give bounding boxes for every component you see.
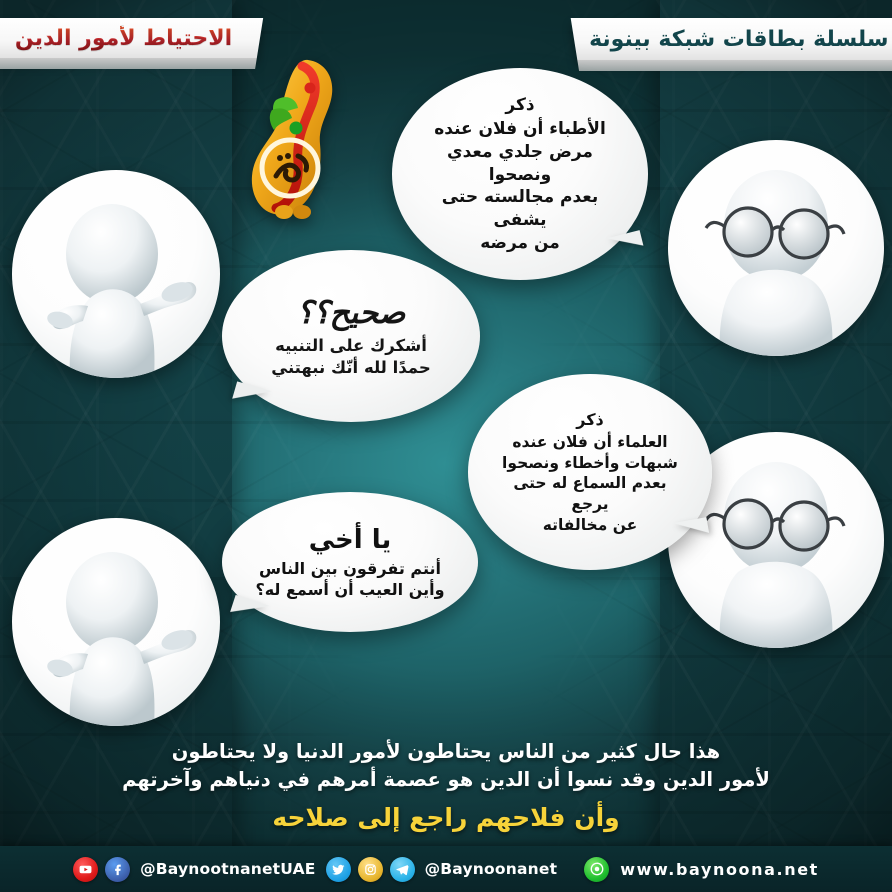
conclusion-block: هذا حال كثير من الناس يحتاطون لأمور الدن… — [0, 738, 892, 832]
bubble-line: بعدم مجالسته حتى يشفى — [418, 186, 622, 231]
bubble-title: صحيح؟؟ — [271, 293, 431, 334]
footer-website[interactable]: www.baynoona.net — [620, 860, 819, 879]
website-icon[interactable] — [584, 857, 609, 882]
character-plain-bottom-left — [12, 518, 220, 726]
bubble-line: من مرضه — [418, 232, 622, 255]
conclusion-highlight: وأن فلاحهم راجع إلى صلاحه — [52, 803, 840, 832]
bubble-line: أشكرك على التنبيه — [271, 335, 431, 357]
conclusion-line-2: لأمور الدين وقد نسوا أن الدين هو عصمة أم… — [52, 766, 840, 794]
facebook-icon[interactable] — [105, 857, 130, 882]
telegram-icon[interactable] — [390, 857, 415, 882]
banner-series-title: سلسلة بطاقات شبكة بينونة — [571, 18, 892, 60]
footer-handle-uae[interactable]: @BaynootnanetUAE — [140, 860, 316, 878]
bubble-line: أنتم تفرقون بين الناس — [255, 558, 444, 579]
character-glasses-top-right — [668, 140, 884, 356]
speech-bubble-doctors-text: ذكر الأطباء أن فلان عنده مرض جلدي معدي و… — [392, 94, 648, 254]
baynoona-logo-icon — [246, 52, 356, 222]
conclusion-line-1: هذا حال كثير من الناس يحتاطون لأمور الدن… — [52, 738, 840, 766]
speech-bubble-reply-sahih: صحيح؟؟ أشكرك على التنبيه حمدًا لله أنّك … — [222, 250, 480, 422]
infographic-card: الاحتياط لأمور الدين سلسلة بطاقات شبكة ب… — [0, 0, 892, 892]
banner-series-title-text: سلسلة بطاقات شبكة بينونة — [589, 27, 888, 52]
youtube-icon[interactable] — [73, 857, 98, 882]
bubble-line: مرض جلدي معدي ونصحوا — [418, 141, 622, 186]
bubble-line: وأين العيب أن أسمع له؟ — [255, 579, 444, 600]
bubble-line: الأطباء أن فلان عنده — [418, 118, 622, 141]
footer-handle-main[interactable]: @Baynoonanet — [425, 860, 558, 878]
twitter-icon[interactable] — [326, 857, 351, 882]
instagram-icon[interactable] — [358, 857, 383, 882]
speech-bubble-reply-ya-akhi: يا أخي أنتم تفرقون بين الناس وأين العيب … — [222, 492, 478, 632]
bubble-title: ذكر — [494, 409, 686, 430]
speech-bubble-reply-sahih-text: صحيح؟؟ أشكرك على التنبيه حمدًا لله أنّك … — [245, 293, 457, 379]
speech-bubble-scholars: ذكر العلماء أن فلان عنده شبهات وأخطاء ون… — [468, 374, 712, 570]
bubble-line: العلماء أن فلان عنده — [494, 432, 686, 453]
character-plain-top-left — [12, 170, 220, 378]
bubble-title: ذكر — [418, 94, 622, 117]
banner-topic-title-text: الاحتياط لأمور الدين — [15, 26, 232, 51]
bubble-line: حمدًا لله أنّك نبهتني — [271, 357, 431, 379]
speech-bubble-reply-ya-akhi-text: يا أخي أنتم تفرقون بين الناس وأين العيب … — [229, 523, 470, 600]
banner-topic-title: الاحتياط لأمور الدين — [0, 18, 263, 58]
bubble-line: شبهات وأخطاء ونصحوا — [494, 453, 686, 474]
speech-bubble-scholars-text: ذكر العلماء أن فلان عنده شبهات وأخطاء ون… — [468, 409, 712, 535]
speech-bubble-doctors: ذكر الأطباء أن فلان عنده مرض جلدي معدي و… — [392, 68, 648, 280]
footer-bar: @BaynootnanetUAE @Baynoonanet — [0, 846, 892, 892]
bubble-line: بعدم السماع له حتى يرجع — [494, 473, 686, 514]
bubble-line: عن مخالفاته — [494, 515, 686, 536]
bubble-title: يا أخي — [255, 523, 444, 558]
